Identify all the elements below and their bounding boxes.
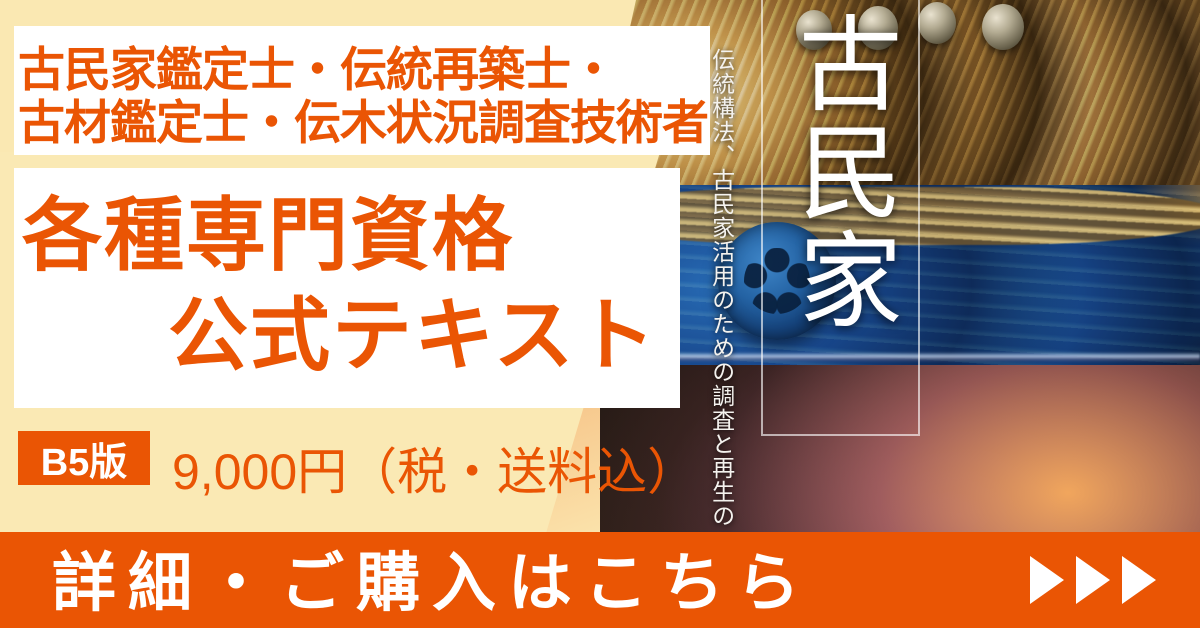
format-badge: B5版 xyxy=(18,431,150,485)
main-title-line-1: 各種専門資格 xyxy=(22,196,514,276)
cta-bar[interactable]: 詳細・ご購入はこちら xyxy=(0,532,1200,628)
triangle-right-icon xyxy=(1076,556,1110,604)
promo-banner: 古民家 伝統構法、古民家活用のための調査と再生の 古民家鑑定士・伝統再築士・ 古… xyxy=(0,0,1200,628)
triangle-right-icon xyxy=(1122,556,1156,604)
carving-knob xyxy=(918,2,956,44)
headline-line-2: 古材鑑定士・伝木状況調査技術者 xyxy=(18,99,708,146)
price-text: 9,000円（税・送料込） xyxy=(172,432,697,504)
main-title-line-2: 公式テキスト xyxy=(168,296,658,376)
cta-arrow-group xyxy=(1030,556,1156,604)
triangle-right-icon xyxy=(1030,556,1064,604)
cover-title: 古民家 xyxy=(768,10,908,334)
carving-knob xyxy=(982,4,1024,50)
headline-line-1: 古民家鑑定士・伝統再築士・ xyxy=(18,46,616,93)
cta-label: 詳細・ご購入はこちら xyxy=(52,532,812,624)
